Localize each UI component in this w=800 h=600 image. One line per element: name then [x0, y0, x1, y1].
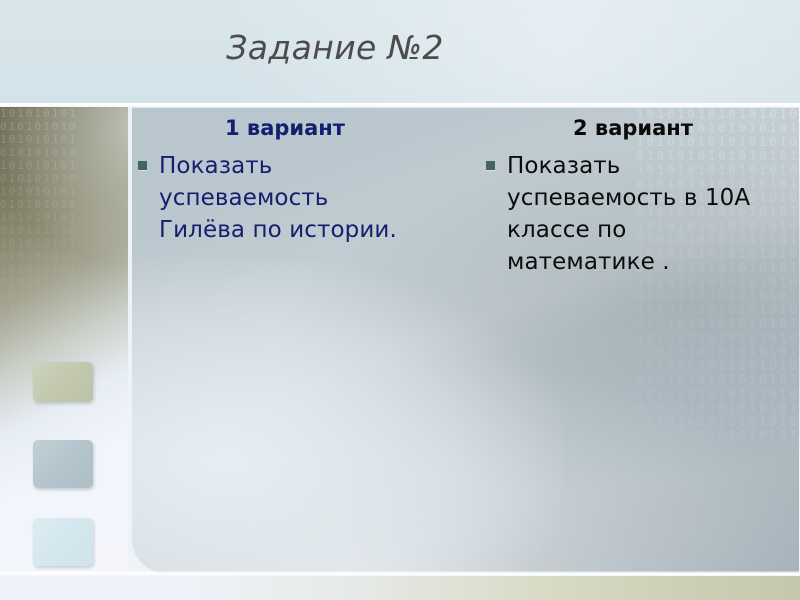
square-bullet-icon — [486, 161, 495, 170]
bullet-item-variant-2: Показать успеваемость в 10А классе по ма… — [486, 150, 790, 278]
column-heading-variant-1: 1 вариант — [138, 115, 454, 141]
deco-square-pale-blue — [33, 518, 93, 566]
column-heading-variant-2: 2 вариант — [486, 115, 790, 141]
square-bullet-icon — [138, 161, 147, 170]
binary-texture-icon: 101010101 010101010 101010101 010101010 … — [0, 107, 128, 347]
two-column-body: 1 вариант Показать успеваемость Гилёва п… — [132, 107, 800, 573]
page-title: Задание №2 — [0, 28, 800, 68]
bottom-decorative-strip — [0, 576, 800, 600]
bullet-text-variant-1: Показать успеваемость Гилёва по истории. — [159, 150, 417, 246]
column-variant-2: 2 вариант Показать успеваемость в 10А кл… — [468, 107, 800, 573]
bullet-text-variant-2: Показать успеваемость в 10А классе по ма… — [507, 150, 769, 278]
deco-square-blue-gray — [33, 440, 93, 488]
column-variant-1: 1 вариант Показать успеваемость Гилёва п… — [132, 107, 468, 573]
presentation-slide: Задание №2 101010101 010101010 101010101… — [0, 0, 800, 600]
left-decorative-strip: 101010101 010101010 101010101 010101010 … — [0, 107, 128, 573]
bullet-item-variant-1: Показать успеваемость Гилёва по истории. — [138, 150, 454, 246]
deco-square-olive — [33, 362, 93, 402]
content-panel: 1010101010101010 0101010101010101 101010… — [132, 107, 800, 573]
